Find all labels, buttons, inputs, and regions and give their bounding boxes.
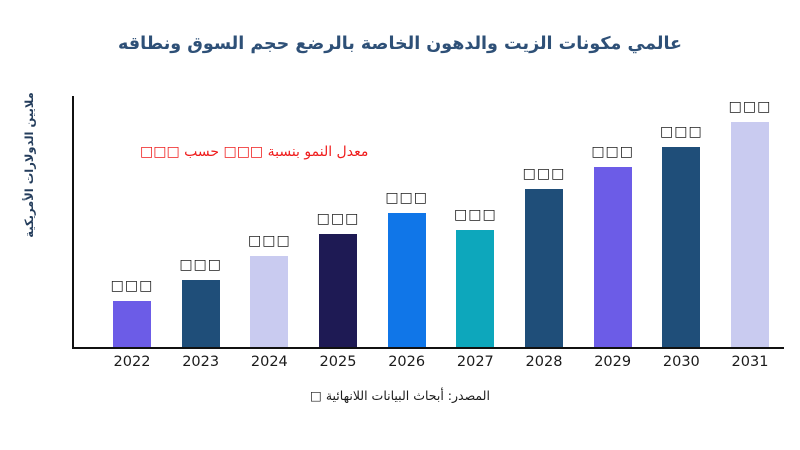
bar-2025[interactable] [319, 234, 357, 347]
bar-value-label-2030: □□□ [660, 124, 703, 140]
bar-2022[interactable] [113, 301, 151, 347]
x-axis-tick-labels: 2022202320242025202620272028202920302031 [72, 354, 784, 378]
bar-value-label-2027: □□□ [454, 207, 497, 223]
x-tick-2022: 2022 [98, 354, 166, 370]
bar-2023[interactable] [182, 280, 220, 347]
bar-value-label-2022: □□□ [111, 278, 154, 294]
bar-value-label-2023: □□□ [179, 257, 222, 273]
bar-value-label-2029: □□□ [591, 144, 634, 160]
bar-value-label-2025: □□□ [317, 211, 360, 227]
bar-2026[interactable] [388, 213, 426, 347]
growth-rate-annotation: معدل النمو بنسبة □□□ حسب □□□ [140, 144, 368, 160]
chart-title: عالمي مكونات الزيت والدهون الخاصة بالرضع… [0, 34, 800, 54]
bar-value-label-2028: □□□ [523, 166, 566, 182]
bar-slot-2030: □□□ [647, 96, 715, 347]
bar-slot-2022: □□□ [98, 96, 166, 347]
x-tick-2030: 2030 [647, 354, 715, 370]
bar-value-label-2024: □□□ [248, 233, 291, 249]
bar-2030[interactable] [662, 147, 700, 347]
x-tick-2028: 2028 [510, 354, 578, 370]
bar-value-label-2031: □□□ [729, 99, 772, 115]
bar-slot-2031: □□□ [716, 96, 784, 347]
bar-series: □□□□□□□□□□□□□□□□□□□□□□□□□□□□□□ [72, 96, 784, 347]
bar-2028[interactable] [525, 189, 563, 347]
x-tick-2026: 2026 [373, 354, 441, 370]
bar-2027[interactable] [456, 230, 494, 347]
chart-container: عالمي مكونات الزيت والدهون الخاصة بالرضع… [0, 0, 800, 450]
x-tick-2023: 2023 [167, 354, 235, 370]
bar-slot-2029: □□□ [579, 96, 647, 347]
x-tick-2029: 2029 [579, 354, 647, 370]
bar-2024[interactable] [250, 256, 288, 347]
bar-slot-2023: □□□ [167, 96, 235, 347]
source-caption: المصدر: أبحاث البيانات اللانهائية □ [0, 388, 800, 403]
x-tick-2025: 2025 [304, 354, 372, 370]
y-axis-title: ملايين الدولارات الأمريكية [22, 92, 36, 237]
bar-slot-2024: □□□ [235, 96, 303, 347]
bar-2031[interactable] [731, 122, 769, 347]
x-tick-2027: 2027 [441, 354, 509, 370]
bar-value-label-2026: □□□ [385, 190, 428, 206]
bar-2029[interactable] [594, 167, 632, 347]
x-tick-2024: 2024 [235, 354, 303, 370]
bar-slot-2028: □□□ [510, 96, 578, 347]
bar-slot-2027: □□□ [441, 96, 509, 347]
x-tick-2031: 2031 [716, 354, 784, 370]
plot-area: □□□□□□□□□□□□□□□□□□□□□□□□□□□□□□ [72, 96, 784, 349]
bar-slot-2025: □□□ [304, 96, 372, 347]
y-axis-title-wrapper: ملايين الدولارات الأمريكية [14, 70, 44, 260]
bar-slot-2026: □□□ [373, 96, 441, 347]
x-axis-line [72, 347, 784, 349]
